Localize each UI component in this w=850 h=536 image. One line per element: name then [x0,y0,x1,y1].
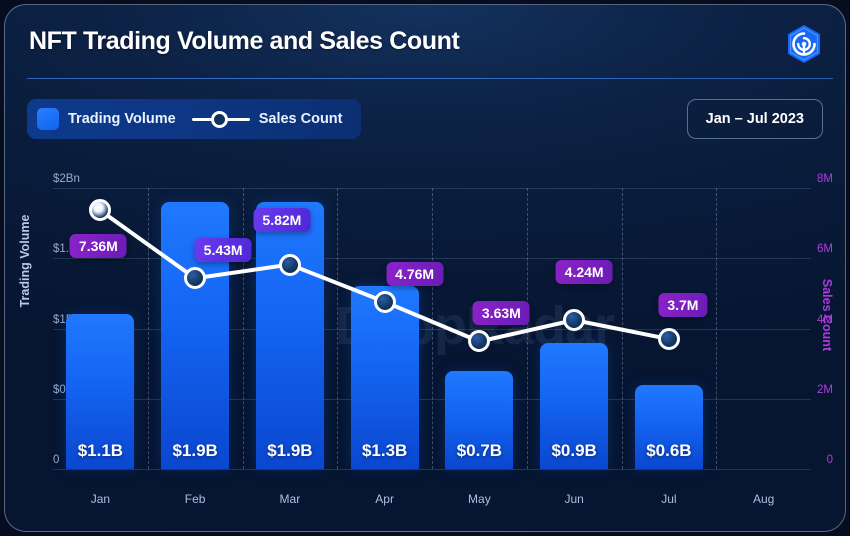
line-marker-mar[interactable] [279,254,301,276]
sales-count-label-may: 3.63M [473,301,530,325]
line-marker-jun[interactable] [563,309,585,331]
sales-count-label-jun: 4.24M [556,260,613,284]
line-marker-may[interactable] [468,330,490,352]
chart-card: NFT Trading Volume and Sales Count Tradi… [4,4,846,532]
line-marker-jul[interactable] [658,328,680,350]
line-marker-jan[interactable] [89,199,111,221]
plot-area: DappRadar Trading Volume Sales Count 0$0… [5,5,846,532]
sales-count-label-feb: 5.43M [195,238,252,262]
sales-count-label-jan: 7.36M [70,234,127,258]
sales-count-label-mar: 5.82M [253,208,310,232]
line-marker-apr[interactable] [374,291,396,313]
line-marker-feb[interactable] [184,267,206,289]
sales-count-label-jul: 3.7M [658,293,707,317]
sales-count-label-apr: 4.76M [386,262,443,286]
